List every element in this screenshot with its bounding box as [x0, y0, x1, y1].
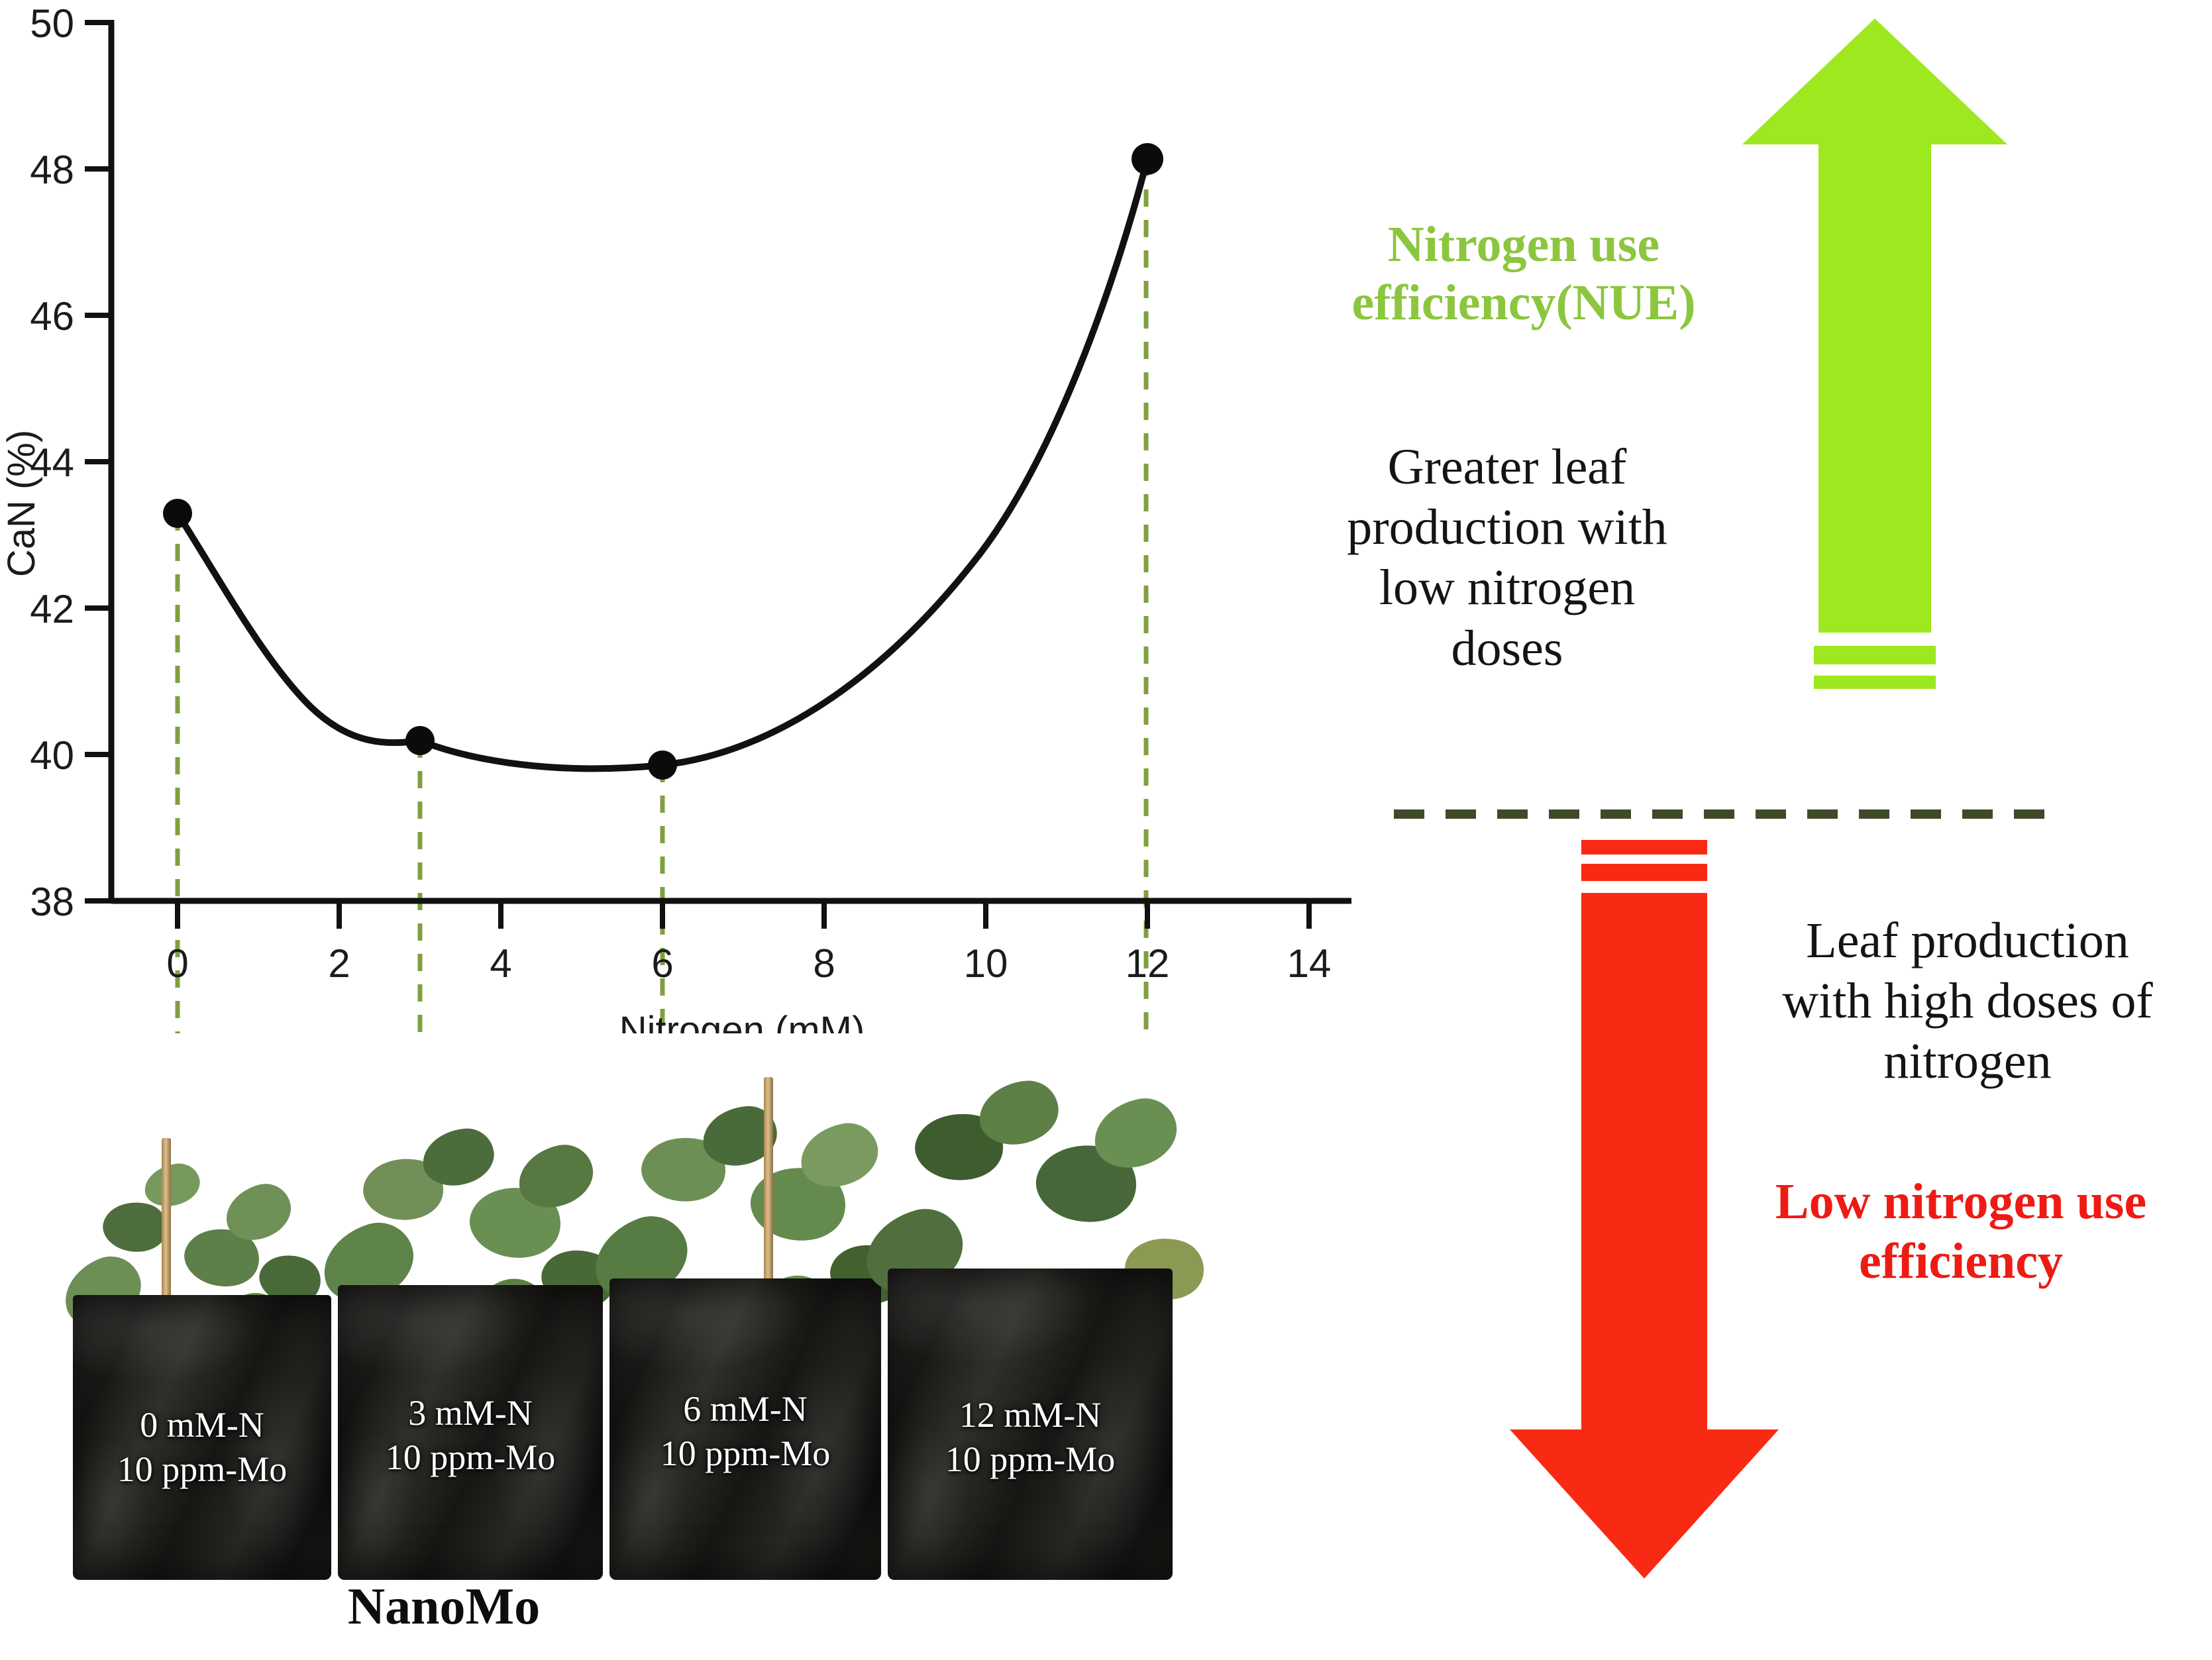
leaf — [976, 1078, 1061, 1148]
summary-panel: Nitrogen use efficiency(NUE) Greater lea… — [1365, 0, 2212, 1660]
pot-label-line1: 12 mM-N — [888, 1393, 1173, 1437]
pot-bag: 3 mM-N 10 ppm-Mo — [338, 1285, 603, 1580]
y-tick-label-48: 48 — [30, 148, 74, 192]
section-divider — [1394, 809, 2046, 819]
low-body-line3: nitrogen — [1722, 1031, 2212, 1092]
y-tick-label-38: 38 — [30, 880, 74, 924]
nue-body-line1: Greater leaf — [1279, 437, 1736, 497]
pot-bag: 6 mM-N 10 ppm-Mo — [609, 1278, 881, 1580]
nue-heading: Nitrogen use efficiency(NUE) — [1292, 215, 1756, 332]
pot-label-6mm: 6 mM-N 10 ppm-Mo — [609, 1387, 881, 1476]
green-arrow-body — [1742, 19, 2007, 633]
pot-label-line1: 0 mM-N — [73, 1403, 331, 1447]
leaf — [142, 1161, 203, 1210]
x-tick-marks — [178, 901, 1309, 929]
nue-body-line3: low nitrogen — [1279, 558, 1736, 618]
x-tick-label-0: 0 — [166, 941, 188, 986]
green-up-arrow-icon — [1736, 13, 2014, 755]
red-arrow-bar-2 — [1581, 864, 1707, 881]
pot-label-line2: 10 ppm-Mo — [609, 1431, 881, 1476]
low-body-line2: with high doses of — [1722, 971, 2212, 1031]
chart-panel: 38 40 42 44 46 48 50 0 2 4 6 8 10 12 14 … — [0, 0, 1365, 1033]
green-arrow-bar-2 — [1814, 676, 1936, 689]
pot-bag: 0 mM-N 10 ppm-Mo — [73, 1295, 331, 1580]
pot-label-12mm: 12 mM-N 10 ppm-Mo — [888, 1393, 1173, 1482]
x-tick-label-2: 2 — [328, 941, 350, 986]
pot-label-line2: 10 ppm-Mo — [888, 1437, 1173, 1482]
pot-group-0mm: 0 mM-N 10 ppm-Mo — [73, 1295, 331, 1580]
can-vs-nitrogen-plot: 38 40 42 44 46 48 50 0 2 4 6 8 10 12 14 … — [0, 0, 1365, 1033]
data-point-6 — [648, 751, 677, 780]
low-nue-body-text: Leaf production with high doses of nitro… — [1722, 911, 2212, 1092]
pot-label-3mm: 3 mM-N 10 ppm-Mo — [338, 1391, 603, 1480]
red-arrow-bar-1 — [1581, 840, 1707, 855]
pot-group-3mm: 3 mM-N 10 ppm-Mo — [338, 1285, 603, 1580]
y-tick-label-42: 42 — [30, 587, 74, 631]
pot-label-line1: 6 mM-N — [609, 1387, 881, 1431]
plant-photo-strip: 0 mM-N 10 ppm-Mo 3 mM-N 10 ppm-Mo — [46, 1063, 1371, 1580]
y-tick-marks — [85, 23, 111, 901]
nue-body-line2: production with — [1279, 497, 1736, 558]
y-tick-label-46: 46 — [30, 294, 74, 338]
fit-curve — [178, 159, 1147, 768]
nue-heading-line1: Nitrogen use — [1292, 215, 1756, 274]
x-tick-label-14: 14 — [1287, 941, 1332, 986]
x-tick-label-10: 10 — [964, 941, 1008, 986]
pot-group-6mm: 6 mM-N 10 ppm-Mo — [609, 1278, 881, 1580]
nue-body-text: Greater leaf production with low nitroge… — [1279, 437, 1736, 679]
data-point-12 — [1132, 143, 1163, 175]
x-axis-title: Nitrogen (mM) — [619, 1009, 865, 1033]
pot-label-line2: 10 ppm-Mo — [338, 1435, 603, 1480]
low-nue-heading: Low nitrogen use efficiency — [1716, 1172, 2206, 1291]
pot-label-line2: 10 ppm-Mo — [73, 1447, 331, 1492]
data-point-0 — [163, 499, 192, 528]
data-point-markers — [163, 143, 1163, 780]
low-heading-line1: Low nitrogen use — [1716, 1172, 2206, 1232]
nue-body-line4: doses — [1279, 619, 1736, 679]
x-tick-label-4: 4 — [490, 941, 511, 986]
green-arrow-bar-1 — [1814, 646, 1936, 664]
y-tick-label-40: 40 — [30, 733, 74, 778]
pot-label-0mm: 0 mM-N 10 ppm-Mo — [73, 1403, 331, 1492]
low-heading-line2: efficiency — [1716, 1232, 2206, 1292]
x-tick-label-8: 8 — [813, 941, 835, 986]
x-tick-label-12: 12 — [1126, 941, 1170, 986]
pot-bag: 12 mM-N 10 ppm-Mo — [888, 1269, 1173, 1580]
y-axis-title: CaN (%) — [0, 430, 43, 577]
x-tick-label-6: 6 — [651, 941, 673, 986]
pot-label-line1: 3 mM-N — [338, 1391, 603, 1435]
photo-caption: NanoMo — [245, 1577, 643, 1636]
nue-heading-line2: efficiency(NUE) — [1292, 274, 1756, 332]
y-tick-label-50: 50 — [30, 1, 74, 46]
pot-group-12mm: 12 mM-N 10 ppm-Mo — [888, 1269, 1173, 1580]
low-body-line1: Leaf production — [1722, 911, 2212, 971]
data-point-3 — [405, 726, 435, 755]
